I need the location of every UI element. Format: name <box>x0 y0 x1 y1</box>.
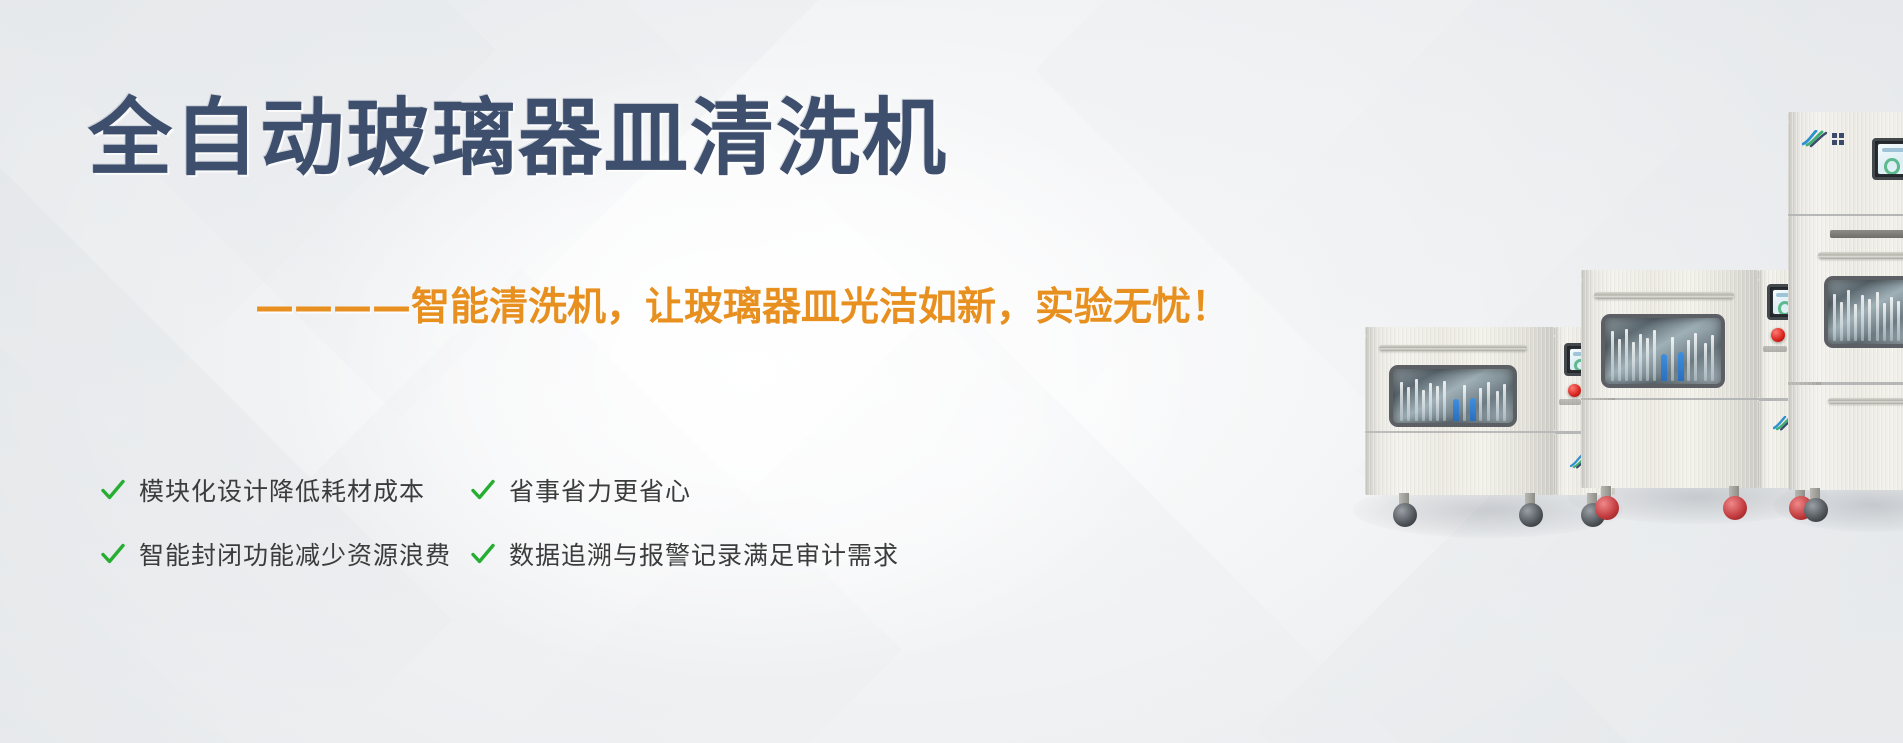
product-undercounter-washer <box>1365 327 1615 507</box>
page-title: 全自动玻璃器皿清洗机 <box>88 96 948 180</box>
feature-item-2: 省事省力更省心 <box>470 458 970 522</box>
feature-row: 智能封闭功能减少资源浪费 数据追溯与报警记录满足审计需求 <box>100 522 980 586</box>
feature-item-3: 智能封闭功能减少资源浪费 <box>100 522 470 586</box>
brand-logo <box>1802 130 1844 148</box>
chamber-window <box>1389 365 1517 427</box>
product-tall-column-washer <box>1788 112 1903 502</box>
feature-label: 模块化设计降低耗材成本 <box>139 472 425 508</box>
feature-item-4: 数据追溯与报警记录满足审计需求 <box>470 522 970 586</box>
caster-wheel <box>1519 503 1543 527</box>
feature-label: 数据追溯与报警记录满足审计需求 <box>509 536 899 572</box>
check-icon <box>100 541 126 567</box>
caster-wheel <box>1723 496 1747 520</box>
logo-squares <box>1832 133 1844 145</box>
feature-list: 模块化设计降低耗材成本 省事省力更省心 智能封闭功能减少资源浪费 <box>100 458 980 586</box>
product-banner: 全自动玻璃器皿清洗机 ————智能清洗机，让玻璃器皿光洁如新，实验无忧！ 模块化… <box>0 0 1903 743</box>
caster-wheel <box>1393 503 1417 527</box>
vent-slot <box>1830 230 1903 238</box>
feature-label: 省事省力更省心 <box>509 472 691 508</box>
check-icon <box>100 477 126 503</box>
product-freestanding-washer <box>1581 270 1821 505</box>
emergency-stop-button[interactable] <box>1771 328 1785 342</box>
feature-label: 智能封闭功能减少资源浪费 <box>139 536 451 572</box>
banner-subtitle: ————智能清洗机，让玻璃器皿光洁如新，实验无忧！ <box>255 288 1230 327</box>
chamber-window <box>1601 314 1725 388</box>
caster-wheel <box>1804 498 1828 522</box>
caster-wheel <box>1595 496 1619 520</box>
control-screen[interactable] <box>1872 138 1903 180</box>
check-icon <box>470 541 496 567</box>
product-images <box>1183 0 1903 743</box>
feature-item-1: 模块化设计降低耗材成本 <box>100 458 470 522</box>
feature-row: 模块化设计降低耗材成本 省事省力更省心 <box>100 458 980 522</box>
check-icon <box>470 477 496 503</box>
banner-copy: 全自动玻璃器皿清洗机 ————智能清洗机，让玻璃器皿光洁如新，实验无忧！ 模块化… <box>0 0 1100 743</box>
emergency-stop-button[interactable] <box>1568 384 1581 397</box>
chamber-window <box>1824 276 1903 348</box>
